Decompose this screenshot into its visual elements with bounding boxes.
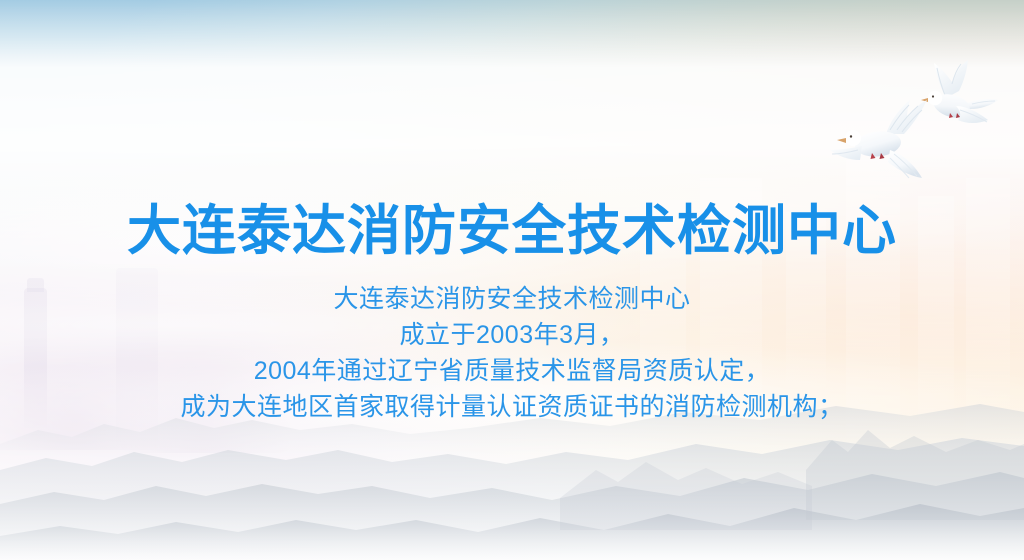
banner-description: 大连泰达消防安全技术检测中心 成立于2003年3月， 2004年通过辽宁省质量技… [0, 281, 1024, 425]
page-title: 大连泰达消防安全技术检测中心 [0, 200, 1024, 262]
hero-banner: 大连泰达消防安全技术检测中心 大连泰达消防安全技术检测中心 成立于2003年3月… [0, 0, 1024, 560]
description-line-4: 成为大连地区首家取得计量认证资质证书的消防检测机构； [0, 389, 1024, 425]
banner-content: 大连泰达消防安全技术检测中心 大连泰达消防安全技术检测中心 成立于2003年3月… [0, 0, 1024, 560]
description-line-3: 2004年通过辽宁省质量技术监督局资质认定， [0, 353, 1024, 389]
description-line-2: 成立于2003年3月， [0, 317, 1024, 353]
description-line-1: 大连泰达消防安全技术检测中心 [0, 281, 1024, 317]
